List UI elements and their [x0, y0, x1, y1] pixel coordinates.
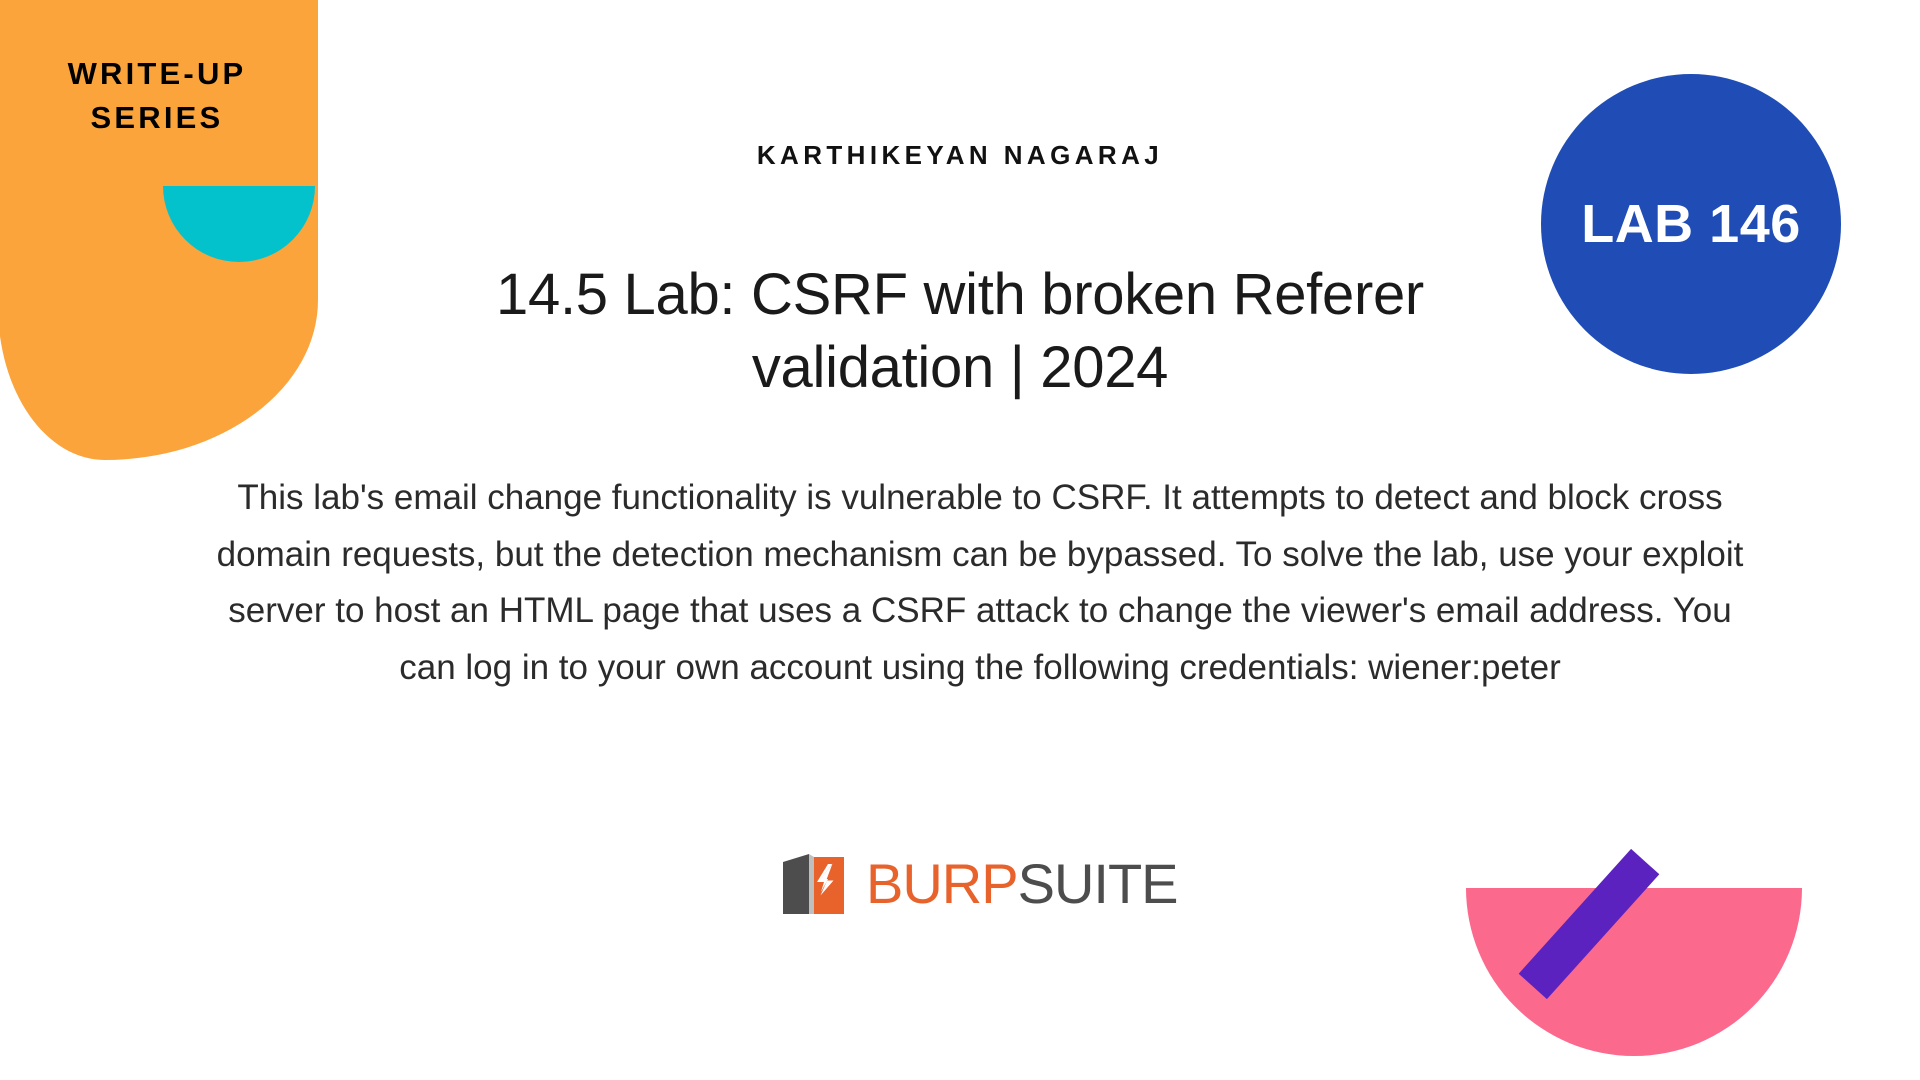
- page-title: 14.5 Lab: CSRF with broken Referer valid…: [370, 258, 1550, 404]
- lab-writeup-banner: LAB 146 WRITE-UP SERIES KARTHIKEYAN NAGA…: [0, 0, 1920, 1080]
- lab-number-badge-label: LAB 146: [1581, 197, 1801, 251]
- lab-description: This lab's email change functionality is…: [215, 470, 1745, 697]
- burpsuite-wordmark: BURPSUITE: [866, 856, 1178, 912]
- author-name: KARTHIKEYAN NAGARAJ: [370, 140, 1550, 171]
- series-tag: WRITE-UP SERIES: [12, 52, 302, 140]
- burpsuite-wordmark-suite: SUITE: [1018, 852, 1178, 915]
- lab-number-badge: LAB 146: [1541, 74, 1841, 374]
- burpsuite-wordmark-burp: BURP: [866, 852, 1018, 915]
- burpsuite-box-icon: [780, 848, 852, 920]
- burpsuite-logo: BURPSUITE: [780, 848, 1178, 920]
- pink-half-circle-shape: [1466, 888, 1802, 1056]
